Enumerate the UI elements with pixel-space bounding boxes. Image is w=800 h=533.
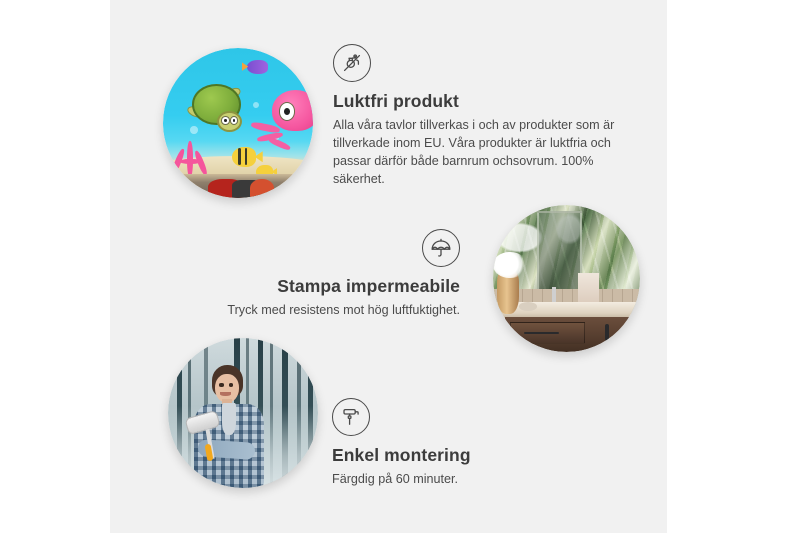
icon-wrap: [205, 229, 460, 267]
feature-odorless: Luktfri produkt Alla våra tavlor tillver…: [333, 44, 623, 189]
feature-title: Stampa impermeabile: [205, 276, 460, 297]
mirror: [537, 211, 582, 294]
octopus-icon: [250, 90, 313, 156]
photo-bathroom-botanical: [493, 205, 640, 352]
feature-description: Färgdig på 60 minuter.: [332, 471, 592, 489]
icon-wrap: [333, 44, 623, 82]
feature-easy-assembly: Enkel montering Färgdig på 60 minuter.: [332, 398, 592, 489]
feature-waterproof: Stampa impermeabile Tryck med resistens …: [205, 229, 460, 320]
purple-fish-icon: [247, 60, 268, 74]
feature-title: Luktfri produkt: [333, 91, 623, 112]
soap-dish: [519, 302, 537, 311]
yellow-fish-icon: [232, 147, 256, 167]
feature-description: Alla våra tavlor tillverkas i och av pro…: [333, 117, 623, 189]
promo-graphic: Luktfri produkt Alla våra tavlor tillver…: [0, 0, 800, 533]
paint-roller-icon: [332, 398, 370, 436]
vanity-cabinet: [505, 317, 640, 352]
feature-description: Tryck med resistens mot hög luftfuktighe…: [205, 302, 460, 320]
umbrella-icon: [422, 229, 460, 267]
photo-underwater-scene: [163, 48, 313, 198]
icon-wrap: [332, 398, 592, 436]
photo-woman-forest-wallpaper: [168, 338, 318, 488]
sea-turtle-icon: [184, 84, 247, 135]
starfish-icon: [250, 179, 274, 197]
woman-with-paint-roller: [189, 365, 276, 488]
feature-title: Enkel montering: [332, 445, 592, 466]
no-spray-bottle-icon: [333, 44, 371, 82]
